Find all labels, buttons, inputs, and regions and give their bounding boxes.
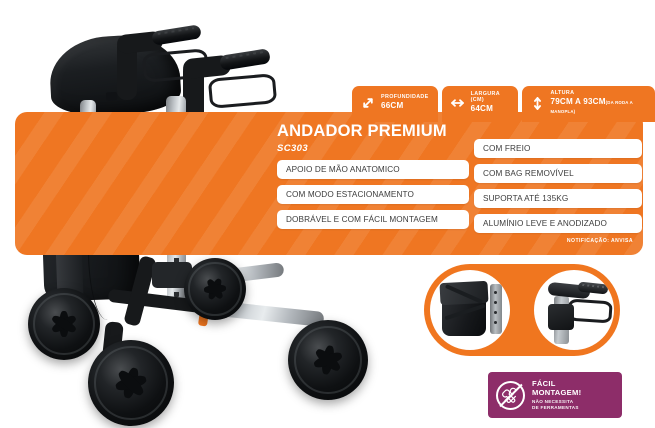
wheel-front-right [288, 320, 368, 400]
dimension-height-label: ALTURA [551, 91, 646, 97]
regulatory-note: NOTIFICAÇÃO: ANVISA [567, 238, 633, 244]
feature-pill: COM MODO ESTACIONAMENTO [277, 185, 469, 204]
handle-clamp [548, 304, 574, 330]
feature-pill: ALUMÍNIO LEVE E ANODIZADO [474, 214, 642, 233]
brake-lever [567, 298, 612, 323]
bag-mount-rail [490, 284, 502, 334]
hand-grip-right [219, 48, 271, 71]
product-banner: PROFUNDIDADE 66CM LARGURA (CM) 64CM [0, 0, 655, 428]
dimension-depth-label: PROFUNDIDADE [381, 95, 429, 101]
thumb-bag-image [430, 270, 510, 350]
wheel-front-left [88, 340, 174, 426]
page-title: ANDADOR PREMIUM [277, 123, 447, 140]
feature-pill: COM FREIO [474, 139, 642, 158]
dimension-height: ALTURA 79CM A 93CM(DA RODA A MANOPLA) [522, 86, 655, 122]
feature-pill: DOBRÁVEL E COM FÁCIL MONTAGEM [277, 210, 469, 229]
brake-lever-right [208, 73, 277, 109]
assembly-line-2: MONTAGEM! [532, 389, 581, 398]
dimension-height-value: 79CM A 93CM(DA RODA A MANOPLA) [551, 98, 646, 115]
product-title-block: ANDADOR PREMIUM SC303 [277, 123, 447, 154]
rail-hole [494, 301, 497, 304]
features-right-column: COM FREIO COM BAG REMOVÍVEL SUPORTA ATÉ … [474, 139, 642, 233]
dimension-height-number: 79CM A 93CM [551, 97, 606, 106]
no-tools-icon [496, 381, 525, 410]
wheel-rear-left [28, 288, 100, 360]
diagonal-arrow-icon [360, 95, 375, 111]
dimension-depth-value: 66CM [381, 102, 429, 111]
dimension-depth-text: PROFUNDIDADE 66CM [381, 95, 429, 111]
vertical-arrow-icon [530, 95, 545, 111]
assembly-badge: FÁCIL MONTAGEM! NÃO NECESSITA DE FERRAME… [488, 372, 622, 418]
thumbnail-capsule [424, 264, 620, 356]
thumb-removable-bag [430, 270, 510, 350]
thumb-handle-image [534, 270, 614, 350]
dimension-width: LARGURA (CM) 64CM [442, 86, 518, 122]
horizontal-arrow-icon [450, 95, 465, 111]
feature-pill: COM BAG REMOVÍVEL [474, 164, 642, 183]
dimension-width-text: LARGURA (CM) 64CM [471, 92, 509, 113]
feature-pill: APOIO DE MÃO ANATOMICO [277, 160, 469, 179]
assembly-line-4: DE FERRAMENTAS [532, 405, 581, 410]
dimension-width-label: LARGURA (CM) [471, 92, 509, 104]
features-left-column: APOIO DE MÃO ANATOMICO COM MODO ESTACION… [277, 160, 469, 229]
dimensions-row: PROFUNDIDADE 66CM LARGURA (CM) 64CM [352, 86, 655, 122]
dimension-height-text: ALTURA 79CM A 93CM(DA RODA A MANOPLA) [551, 91, 646, 115]
dimension-width-value: 64CM [471, 105, 509, 114]
wheel-rear-right [184, 258, 246, 320]
rail-hole [494, 291, 497, 294]
product-model: SC303 [277, 143, 447, 154]
rail-hole [494, 311, 497, 314]
feature-pill: SUPORTA ATÉ 135KG [474, 189, 642, 208]
assembly-badge-text: FÁCIL MONTAGEM! NÃO NECESSITA DE FERRAME… [532, 380, 581, 409]
dimension-depth: PROFUNDIDADE 66CM [352, 86, 438, 122]
hand-grip-left [151, 24, 202, 45]
rail-hole [494, 321, 497, 324]
thumb-handle-brake [534, 270, 614, 350]
